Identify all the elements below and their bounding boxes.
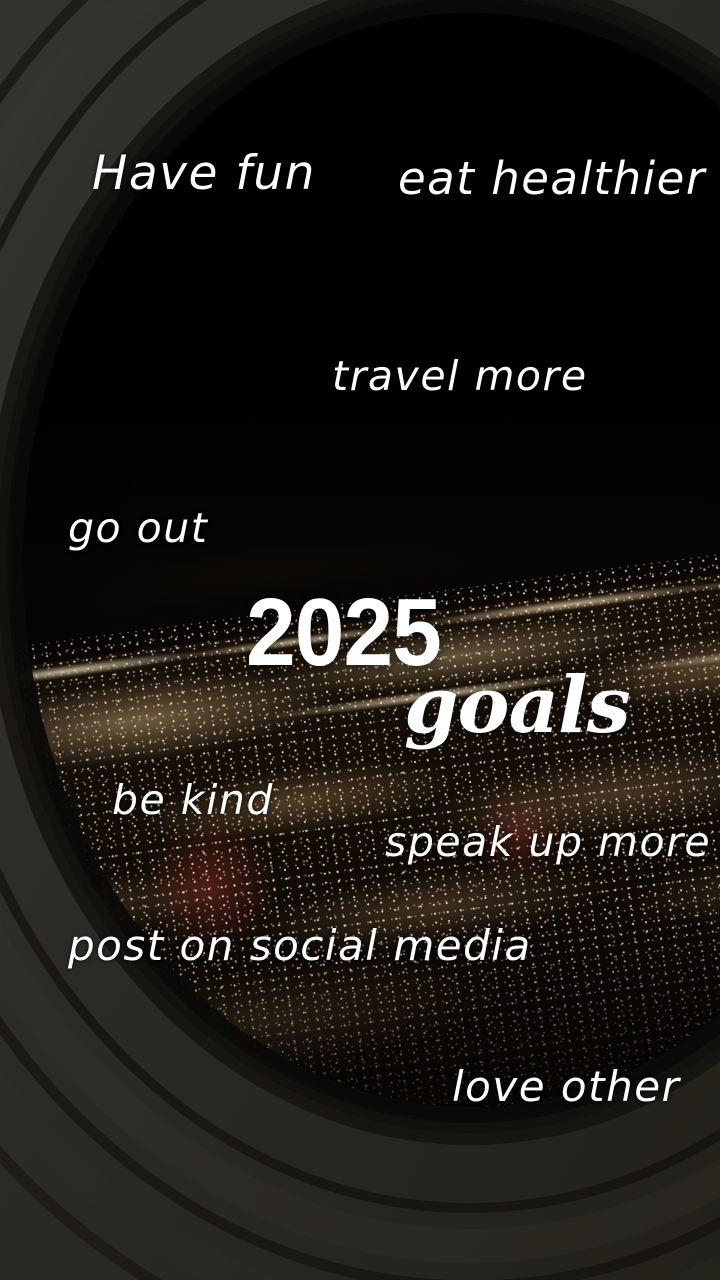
goal-text-go-out: go out <box>68 504 208 552</box>
headline-goals: goals <box>404 660 630 751</box>
goal-text-travel-more: travel more <box>332 352 588 400</box>
text-overlay: Have fun eat healthier travel more go ou… <box>0 0 720 1280</box>
goal-text-have-fun: Have fun <box>92 146 316 201</box>
goal-text-be-kind: be kind <box>112 776 274 824</box>
poster-canvas: Have fun eat healthier travel more go ou… <box>0 0 720 1280</box>
goal-text-love-other: love other <box>452 1062 680 1111</box>
goal-text-speak-up-more: speak up more <box>385 818 711 866</box>
goal-text-eat-healthier: eat healthier <box>398 152 706 205</box>
goal-text-post-on-social-media: post on social media <box>68 921 532 970</box>
